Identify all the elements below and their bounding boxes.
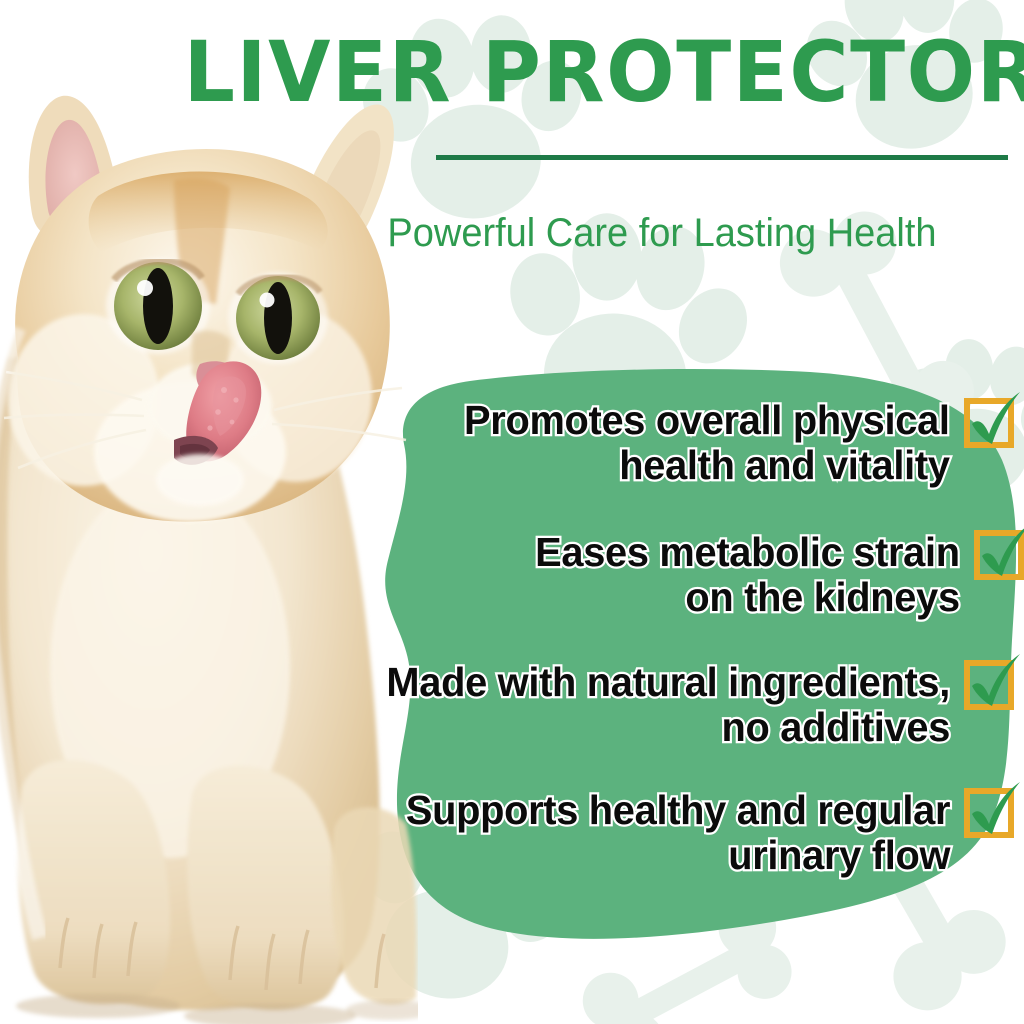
product-benefits-poster: LIVER PROTECTOR Powerful Care for Lastin… — [0, 0, 1024, 1024]
checkbox-checked-icon — [962, 784, 1020, 842]
benefit-item: Promotes overall physical health and vit… — [270, 398, 1024, 488]
benefit-item: Made with natural ingredients, no additi… — [270, 660, 1024, 750]
benefits-list: Promotes overall physical health and vit… — [270, 398, 1024, 878]
benefit-text: Made with natural ingredients, no additi… — [386, 660, 950, 750]
cat-eye-right — [228, 272, 328, 364]
page-subtitle: Powerful Care for Lasting Health — [318, 208, 1006, 258]
benefit-item: Eases metabolic strain on the kidneys — [270, 530, 1024, 620]
benefit-item: Supports healthy and regular urinary flo… — [270, 788, 1024, 878]
checkbox-checked-icon — [962, 656, 1020, 714]
poster-header: LIVER PROTECTOR — [200, 26, 1024, 110]
benefit-text: Supports healthy and regular urinary flo… — [406, 788, 950, 878]
benefit-text: Promotes overall physical health and vit… — [464, 398, 950, 488]
checkbox-checked-icon — [972, 526, 1024, 584]
page-title: LIVER PROTECTOR — [175, 26, 1024, 118]
header-divider — [436, 155, 1008, 160]
checkbox-checked-icon — [962, 394, 1020, 452]
benefit-text: Eases metabolic strain on the kidneys — [535, 530, 960, 620]
